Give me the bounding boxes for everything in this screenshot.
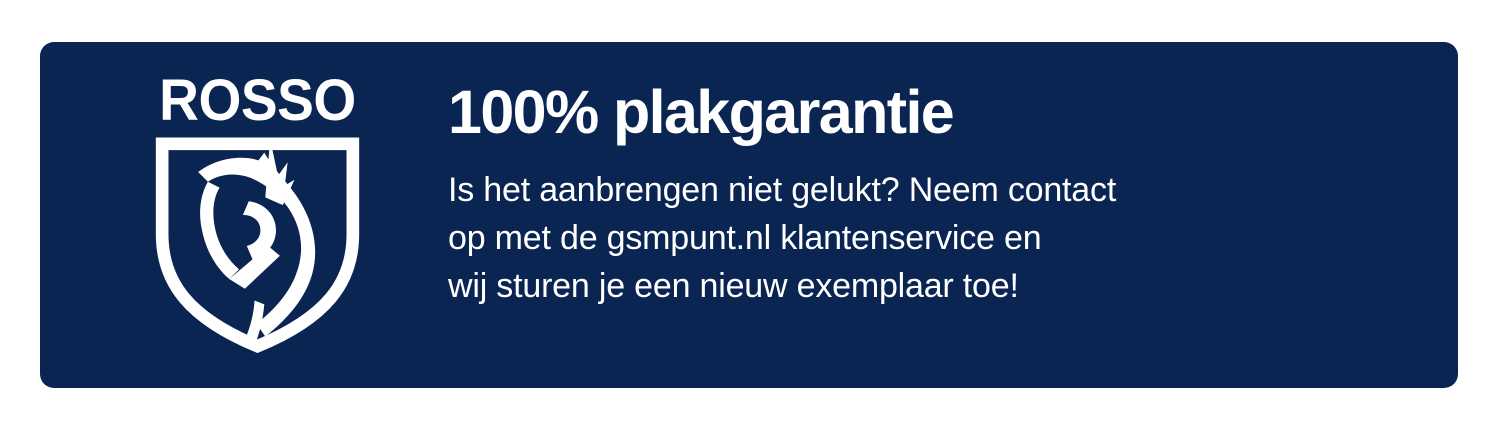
rosso-logo: ROSSO (135, 72, 380, 357)
promo-body-line: wij sturen je een nieuw exemplaar toe! (448, 262, 1408, 310)
promo-body-line: op met de gsmpunt.nl klantenservice en (448, 214, 1408, 262)
promo-banner-page: ROSSO (0, 0, 1500, 433)
promo-heading: 100% plakgarantie (448, 80, 1408, 144)
rosso-wordmark: ROSSO (159, 72, 356, 130)
plakgarantie-promo-card: ROSSO (40, 42, 1458, 388)
promo-text-block: 100% plakgarantie Is het aanbrengen niet… (448, 80, 1408, 310)
shield-horse-head-icon (155, 137, 360, 353)
promo-body: Is het aanbrengen niet gelukt? Neem cont… (448, 166, 1408, 310)
promo-body-line: Is het aanbrengen niet gelukt? Neem cont… (448, 166, 1408, 214)
